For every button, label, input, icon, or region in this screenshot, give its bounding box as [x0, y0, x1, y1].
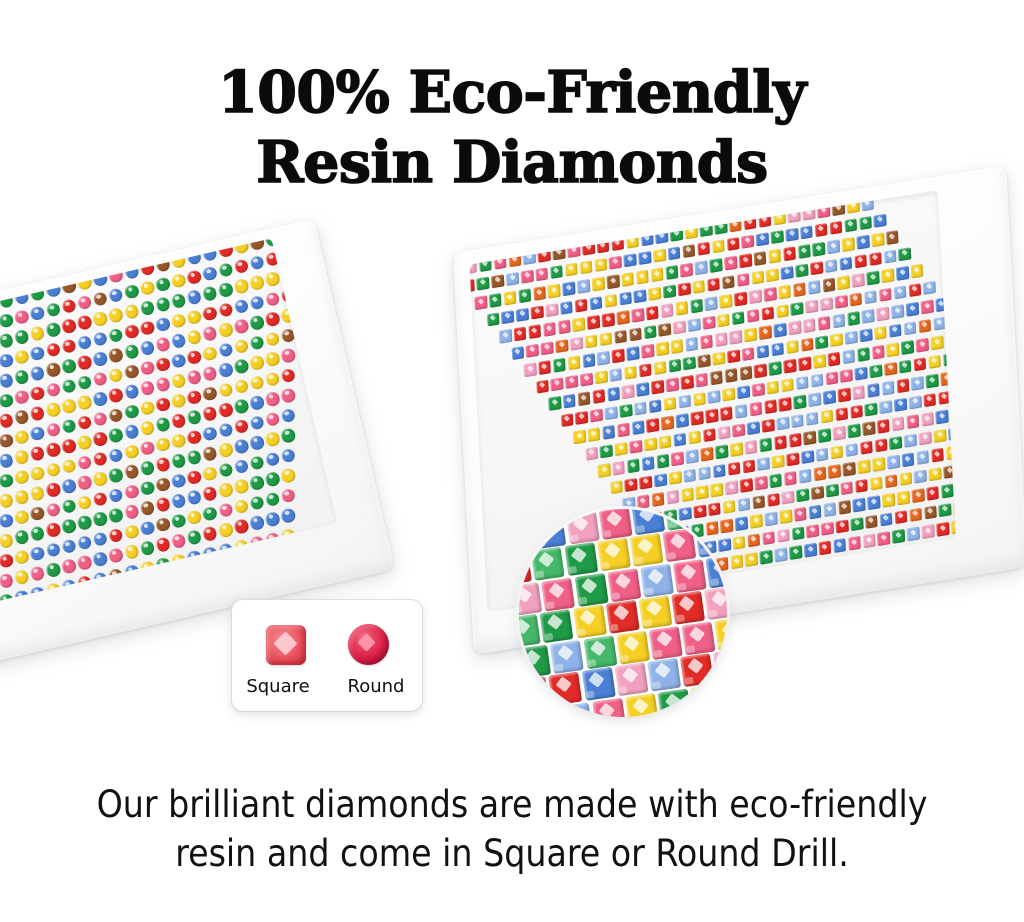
drill-bead [14, 429, 30, 445]
drill-bead [202, 425, 218, 441]
drill-bead [605, 406, 618, 421]
drill-bead [857, 235, 870, 250]
drill-bead [840, 368, 853, 383]
drill-bead [624, 365, 637, 380]
drill-bead [29, 605, 45, 607]
drill-bead [92, 531, 108, 547]
drill-bead [624, 253, 637, 268]
drill-bead [705, 408, 718, 423]
drill-bead [665, 265, 678, 280]
drill-bead [123, 323, 139, 339]
drill-bead [655, 229, 668, 244]
drill-bead [887, 455, 900, 470]
drill-bead [690, 411, 703, 426]
drill-bead [713, 463, 726, 478]
drill-bead [486, 312, 499, 327]
legend-gem-row [266, 619, 389, 671]
drill-bead [45, 422, 61, 438]
drill-bead [756, 232, 769, 247]
drill-bead [170, 413, 186, 429]
magnified-drill-bead [573, 605, 607, 639]
drill-bead [186, 469, 202, 485]
magnified-drill-bead [614, 662, 648, 696]
drill-bead [29, 525, 45, 541]
drill-bead [76, 314, 92, 330]
drill-bead [884, 249, 897, 264]
drill-bead [61, 338, 77, 354]
drill-bead [108, 367, 124, 383]
drill-bead [218, 302, 234, 318]
drill-bead [233, 558, 249, 574]
drill-bead [801, 562, 814, 577]
drill-bead [776, 304, 789, 319]
drill-bead [29, 405, 45, 421]
drill-bead [938, 390, 951, 405]
drill-bead [582, 241, 595, 256]
drill-bead [786, 452, 799, 467]
drill-bead [139, 360, 155, 376]
magnified-drill-bead [592, 697, 626, 717]
drill-bead [45, 301, 61, 317]
drill-bead [796, 488, 809, 503]
drill-bead [695, 260, 708, 275]
drill-bead [690, 299, 703, 314]
drill-bead [760, 550, 773, 565]
drill-bead [782, 490, 795, 505]
drill-bead [802, 206, 815, 221]
drill-bead [123, 283, 139, 299]
drill-bead [29, 445, 45, 461]
drill-bead [730, 554, 743, 569]
drill-bead [849, 292, 862, 307]
drill-bead [139, 440, 155, 456]
drill-bead [186, 309, 202, 325]
drill-bead [108, 347, 124, 363]
drill-bead [796, 375, 809, 390]
drill-bead [722, 387, 735, 402]
drill-bead [923, 393, 936, 408]
drill-bead [886, 342, 899, 357]
drill-bead [749, 402, 762, 417]
drill-bead [29, 345, 45, 361]
drill-bead [812, 242, 825, 257]
drill-bead [732, 311, 745, 326]
drill-bead [708, 389, 721, 404]
drill-bead [516, 307, 529, 322]
drill-bead [155, 416, 171, 432]
drill-bead [565, 262, 578, 277]
drill-bead [904, 321, 917, 336]
drill-bead [218, 282, 234, 298]
drill-bead [857, 347, 870, 362]
drill-bead [769, 361, 782, 376]
drill-bead [943, 464, 956, 479]
drill-bead [587, 315, 600, 330]
drill-bead [737, 385, 750, 400]
drill-bead [764, 399, 777, 414]
round-tray-well [0, 238, 337, 607]
drill-bead [845, 443, 858, 458]
drill-bead [597, 463, 610, 478]
drill-bead [29, 385, 45, 401]
drill-bead [712, 351, 725, 366]
drill-bead [819, 540, 832, 555]
drill-bead [186, 449, 202, 465]
drill-bead [904, 546, 917, 561]
drill-bead [233, 538, 249, 554]
drill-bead [649, 399, 662, 414]
drill-bead [859, 216, 872, 231]
drill-bead [573, 429, 586, 444]
drill-bead [249, 334, 265, 350]
drill-bead [155, 316, 171, 332]
drill-bead [155, 536, 171, 552]
drill-bead [811, 373, 824, 388]
drill-bead [795, 263, 808, 278]
drill-bead [0, 552, 14, 568]
drill-bead [123, 403, 139, 419]
drill-bead [817, 203, 830, 218]
drill-bead [92, 371, 108, 387]
drill-bead [108, 267, 124, 283]
magnified-drill-bead [607, 568, 641, 602]
drill-bead [815, 335, 828, 350]
drill-bead [14, 449, 30, 465]
drill-bead [123, 483, 139, 499]
drill-bead [92, 411, 108, 427]
drill-bead [170, 252, 186, 268]
drill-bead [696, 485, 709, 500]
drill-bead [759, 437, 772, 452]
drill-bead [673, 432, 686, 447]
drill-bead [61, 298, 77, 314]
drill-bead [76, 414, 92, 430]
drill-bead [280, 467, 296, 483]
drill-bead [907, 526, 920, 541]
drill-bead [592, 277, 605, 292]
drill-bead [682, 244, 695, 259]
drill-bead [676, 413, 689, 428]
drill-bead [855, 366, 868, 381]
drill-bead [202, 245, 218, 261]
drill-bead [861, 196, 874, 211]
drill-bead [233, 318, 249, 334]
drill-bead [899, 359, 912, 374]
drill-bead [786, 340, 799, 355]
magnified-drill-bead [559, 702, 593, 717]
drill-bead [626, 234, 639, 249]
drill-bead [745, 552, 758, 567]
drill-bead [832, 201, 845, 216]
drill-bead [155, 336, 171, 352]
drill-bead [265, 451, 281, 467]
drill-bead [764, 287, 777, 302]
drill-bead [904, 433, 917, 448]
drill-bead [186, 369, 202, 385]
drill-bead [92, 551, 108, 567]
drill-bead [842, 349, 855, 364]
drill-bead [218, 542, 234, 558]
drill-bead [123, 543, 139, 559]
drill-bead [846, 555, 859, 570]
drill-bead [931, 448, 944, 463]
drill-bead [155, 496, 171, 512]
drill-bead [896, 378, 909, 393]
drill-bead [798, 244, 811, 259]
drill-bead [865, 514, 878, 529]
drill-bead [280, 367, 296, 383]
magnified-drill-bead [550, 640, 584, 674]
drill-bead [891, 304, 904, 319]
drill-bead [611, 236, 624, 251]
drill-bead [29, 505, 45, 521]
drill-bead [724, 256, 737, 271]
caption-line-2: resin and come in Square or Round Drill. [0, 829, 1024, 878]
drill-bead [588, 427, 601, 442]
drill-bead [265, 491, 281, 507]
drill-bead [815, 223, 828, 238]
drill-bead [820, 409, 833, 424]
drill-bead [541, 341, 554, 356]
drill-bead [889, 436, 902, 451]
drill-bead [589, 296, 602, 311]
drill-bead [594, 257, 607, 272]
drill-bead [725, 480, 738, 495]
drill-bead [791, 414, 804, 429]
drill-bead [233, 518, 249, 534]
drill-bead [686, 449, 699, 464]
drill-bead [673, 320, 686, 335]
magnified-drill-bead [647, 658, 681, 692]
drill-bead [170, 473, 186, 489]
drill-bead [869, 251, 882, 266]
drill-bead [123, 263, 139, 279]
drill-bead [14, 529, 30, 545]
drill-bead [862, 309, 875, 324]
drill-bead [622, 384, 635, 399]
drill-bead [626, 346, 639, 361]
drill-bead [619, 291, 632, 306]
drill-bead [951, 519, 956, 534]
drill-bead [607, 387, 620, 402]
drill-bead [61, 458, 77, 474]
drill-bead [886, 230, 899, 245]
drill-bead [656, 341, 669, 356]
drill-bead [641, 231, 654, 246]
drill-bead [280, 347, 296, 363]
drill-bead [715, 332, 728, 347]
drill-bead [218, 502, 234, 518]
drill-bead [652, 492, 665, 507]
drill-bead [809, 505, 822, 520]
drill-bead [551, 377, 564, 392]
drill-bead [948, 426, 956, 441]
drill-bead [533, 286, 546, 301]
magnified-drill-bead [704, 586, 727, 620]
drill-bead [186, 289, 202, 305]
drill-bead [0, 472, 14, 488]
drill-bead [233, 298, 249, 314]
drill-bead [108, 307, 124, 323]
drill-bead [892, 416, 905, 431]
drill-bead [92, 311, 108, 327]
drill-bead [730, 442, 743, 457]
drill-bead [92, 271, 108, 287]
drill-bead [762, 531, 775, 546]
drill-bead [563, 394, 576, 409]
drill-bead [663, 284, 676, 299]
drill-bead [599, 332, 612, 347]
drill-bead [45, 582, 61, 598]
magnified-drill-bead [706, 554, 727, 588]
drill-bead [76, 594, 92, 607]
drill-bead [139, 520, 155, 536]
drill-bead [499, 329, 512, 344]
drill-bead [827, 239, 840, 254]
drill-bead [847, 199, 860, 214]
drill-bead [911, 264, 924, 279]
drill-bead [155, 456, 171, 472]
drill-bead [92, 491, 108, 507]
drill-bead [747, 421, 760, 436]
drill-bead [501, 310, 514, 325]
drill-bead [139, 480, 155, 496]
drill-bead [609, 255, 622, 270]
drill-bead [170, 312, 186, 328]
drill-bead [948, 314, 956, 329]
drill-bead [816, 559, 829, 574]
drill-bead [710, 483, 723, 498]
drill-bead [894, 397, 907, 412]
drill-bead [709, 258, 722, 273]
drill-bead [280, 427, 296, 443]
drill-bead [218, 422, 234, 438]
magnified-drill-bead [638, 595, 672, 629]
drill-bead [629, 439, 642, 454]
drill-shape-legend: Square Round [232, 600, 422, 711]
drill-bead [758, 213, 771, 228]
magnified-drill-bead [713, 648, 727, 682]
drill-bead [572, 317, 585, 332]
drill-bead [933, 316, 946, 331]
drill-bead [840, 481, 853, 496]
drill-bead [579, 260, 592, 275]
drill-bead [637, 494, 650, 509]
drill-bead [634, 289, 647, 304]
drill-bead [536, 379, 549, 394]
drill-bead [874, 213, 887, 228]
drill-bead [818, 428, 831, 443]
magnified-drill-bead [598, 509, 632, 539]
drill-bead [943, 352, 956, 367]
drill-bead [249, 555, 265, 571]
drill-bead [265, 351, 281, 367]
drill-bead [280, 507, 296, 523]
drill-bead [249, 474, 265, 490]
drill-bead [767, 492, 780, 507]
drill-bead [0, 332, 14, 348]
drill-bead [202, 325, 218, 341]
drill-bead [139, 380, 155, 396]
drill-bead [718, 425, 731, 440]
drill-bead [523, 362, 536, 377]
drill-bead [265, 411, 281, 427]
magnified-drill-rows [519, 509, 727, 717]
drill-bead [29, 365, 45, 381]
drill-bead [560, 300, 573, 315]
drill-bead [642, 456, 655, 471]
drill-bead [155, 516, 171, 532]
drill-bead [218, 262, 234, 278]
drill-bead [186, 389, 202, 405]
drill-bead [123, 563, 139, 579]
drill-bead [700, 447, 713, 462]
drill-bead [835, 407, 848, 422]
drill-bead [774, 323, 787, 338]
drill-bead [752, 382, 765, 397]
drill-bead [280, 287, 296, 303]
drill-bead [823, 390, 836, 405]
drill-bead [906, 302, 919, 317]
drill-bead [265, 251, 281, 267]
drill-bead [170, 333, 186, 349]
drill-bead [45, 381, 61, 397]
drill-bead [825, 258, 838, 273]
drill-bead [0, 312, 14, 328]
drill-bead [950, 407, 955, 422]
drill-bead [123, 443, 139, 459]
caption-text: Our brilliant diamonds are made with eco… [0, 780, 1024, 878]
drill-bead [0, 492, 14, 508]
drill-bead [702, 315, 715, 330]
drill-bead [202, 465, 218, 481]
drill-bead [170, 272, 186, 288]
drill-bead [894, 510, 907, 525]
drill-bead [249, 414, 265, 430]
drill-bead [835, 294, 848, 309]
drill-bead [698, 466, 711, 481]
magnified-drill-bead [630, 533, 664, 567]
drill-bead [170, 373, 186, 389]
drill-bead [855, 478, 868, 493]
drill-bead [774, 435, 787, 450]
drill-bead [908, 283, 921, 298]
drill-bead [661, 303, 674, 318]
drill-bead [108, 547, 124, 563]
drill-bead [233, 438, 249, 454]
drill-bead [712, 239, 725, 254]
drill-bead [916, 338, 929, 353]
drill-bead [646, 418, 659, 433]
legend-label-square: Square [240, 676, 316, 697]
drill-bead [108, 387, 124, 403]
drill-bead [717, 313, 730, 328]
drill-bead [582, 353, 595, 368]
drill-bead [14, 389, 30, 405]
drill-bead [762, 418, 775, 433]
magnified-drill-bead [640, 563, 674, 597]
drill-bead [139, 300, 155, 316]
drill-bead [61, 518, 77, 534]
drill-bead [45, 442, 61, 458]
drill-bead [918, 319, 931, 334]
drill-bead [803, 318, 816, 333]
drill-bead [139, 540, 155, 556]
magnified-drill-bead [664, 509, 698, 530]
drill-bead [469, 278, 474, 293]
drill-bead [788, 208, 801, 223]
drill-bead [171, 493, 187, 509]
